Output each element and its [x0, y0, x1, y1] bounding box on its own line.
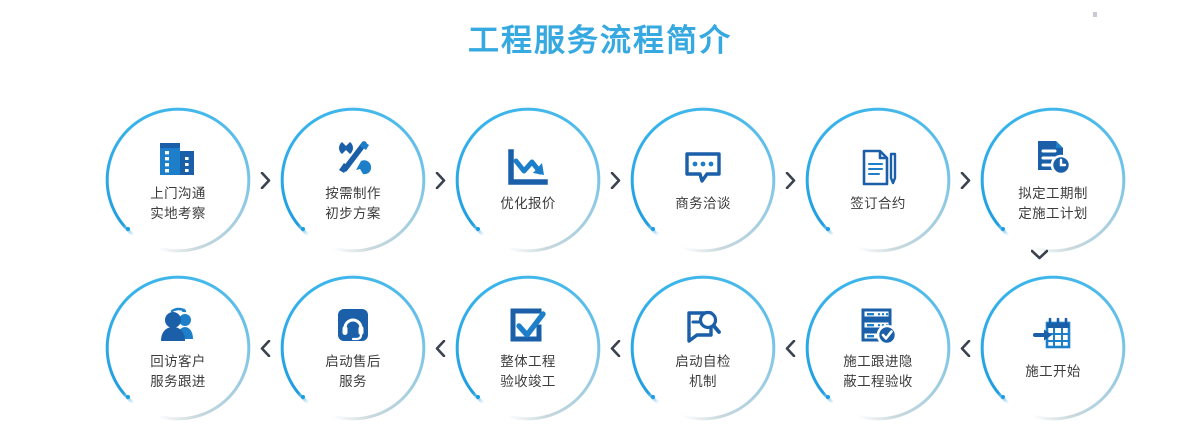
- caption-line: 优化报价: [500, 194, 556, 214]
- caption-line: 服务: [325, 372, 381, 392]
- chat-bubble-icon: [680, 146, 726, 190]
- flow-step-12[interactable]: 回访客户 服务跟进: [105, 275, 251, 421]
- connector-arrow-right: [426, 107, 455, 253]
- chart-down-arrow-icon: [505, 146, 551, 190]
- flow-step-caption: 按需制作 初步方案: [325, 184, 381, 224]
- flow-step-caption: 启动自检 机制: [675, 352, 731, 392]
- caption-line: 启动售后: [325, 352, 381, 372]
- caption-line: 按需制作: [325, 184, 381, 204]
- image-artifact-mark: [1093, 12, 1097, 17]
- flow-row-2: 回访客户 服务跟进 启动售后 服务: [0, 268, 1200, 428]
- step-ring-cap: [826, 395, 830, 399]
- connector-arrow-left: [951, 275, 980, 421]
- step-ring: [105, 275, 251, 421]
- people-followup-icon: [155, 304, 201, 348]
- flow-step-1[interactable]: 上门沟通 实地考察: [105, 107, 251, 253]
- connector-arrow-left: [426, 275, 455, 421]
- caption-line: 启动自检: [675, 352, 731, 372]
- page-title: 工程服务流程简介: [0, 21, 1200, 61]
- flow-step-caption: 施工跟进隐 蔽工程验收: [843, 352, 913, 392]
- document-pen-icon: [855, 146, 901, 190]
- tools-wrench-screwdriver-icon: [330, 136, 376, 180]
- flow-step-11[interactable]: 启动售后 服务: [280, 275, 426, 421]
- document-clock-icon: [1030, 136, 1076, 180]
- flow-step-caption: 拟定工期制 定施工计划: [1018, 184, 1088, 224]
- flow-step-caption: 商务洽谈: [675, 194, 731, 214]
- building-icon: [155, 136, 201, 180]
- flow-step-caption: 回访客户 服务跟进: [150, 352, 206, 392]
- flow-step-10[interactable]: 整体工程 验收竣工: [455, 275, 601, 421]
- flow-step-caption: 施工开始: [1025, 362, 1081, 382]
- caption-line: 机制: [675, 372, 731, 392]
- connector-arrow-left: [601, 275, 630, 421]
- caption-line: 拟定工期制: [1018, 184, 1088, 204]
- connector-arrow-left: [776, 275, 805, 421]
- step-ring: [280, 107, 426, 253]
- row-turn-arrow: [1014, 240, 1064, 268]
- caption-line: 施工开始: [1025, 362, 1081, 382]
- headset-support-icon: [330, 304, 376, 348]
- step-ring: [455, 275, 601, 421]
- connector-arrow-right: [951, 107, 980, 253]
- flow-step-8[interactable]: 施工跟进隐 蔽工程验收: [805, 275, 951, 421]
- flow-step-2[interactable]: 按需制作 初步方案: [280, 107, 426, 253]
- connector-arrow-right: [601, 107, 630, 253]
- flow-step-3[interactable]: 优化报价: [455, 107, 601, 253]
- caption-line: 商务洽谈: [675, 194, 731, 214]
- step-ring-cap: [826, 227, 830, 231]
- flow-step-caption: 签订合约: [850, 194, 906, 214]
- step-ring-cap: [301, 395, 305, 399]
- caption-line: 服务跟进: [150, 372, 206, 392]
- connector-arrow-left: [251, 275, 280, 421]
- checkbox-check-icon: [505, 304, 551, 348]
- caption-line: 验收竣工: [500, 372, 556, 392]
- caption-line: 上门沟通: [150, 184, 206, 204]
- step-ring-cap: [651, 227, 655, 231]
- flow-step-caption: 优化报价: [500, 194, 556, 214]
- caption-line: 初步方案: [325, 204, 381, 224]
- caption-line: 蔽工程验收: [843, 372, 913, 392]
- flow-step-4[interactable]: 商务洽谈: [630, 107, 776, 253]
- caption-line: 实地考察: [150, 204, 206, 224]
- step-ring: [980, 107, 1126, 253]
- step-ring-cap: [126, 227, 130, 231]
- step-ring-cap: [476, 227, 480, 231]
- caption-line: 签订合约: [850, 194, 906, 214]
- connector-arrow-right: [776, 107, 805, 253]
- step-ring-cap: [476, 395, 480, 399]
- flow-step-caption: 上门沟通 实地考察: [150, 184, 206, 224]
- caption-line: 回访客户: [150, 352, 206, 372]
- flow-step-5[interactable]: 签订合约: [805, 107, 951, 253]
- flow-step-9[interactable]: 启动自检 机制: [630, 275, 776, 421]
- connector-arrow-right: [251, 107, 280, 253]
- flow-step-6[interactable]: 拟定工期制 定施工计划: [980, 107, 1126, 253]
- caption-line: 整体工程: [500, 352, 556, 372]
- step-ring-cap: [301, 227, 305, 231]
- document-magnifier-icon: [680, 304, 726, 348]
- step-ring-cap: [1001, 395, 1005, 399]
- caption-line: 定施工计划: [1018, 204, 1088, 224]
- process-flow-infographic: 工程服务流程简介: [0, 0, 1200, 440]
- step-ring-cap: [651, 395, 655, 399]
- flow-row-1: 上门沟通 实地考察 按: [0, 100, 1200, 260]
- step-ring-cap: [1001, 227, 1005, 231]
- calendar-start-icon: [1030, 314, 1076, 358]
- flow-step-caption: 整体工程 验收竣工: [500, 352, 556, 392]
- flow-step-caption: 启动售后 服务: [325, 352, 381, 392]
- step-ring: [630, 275, 776, 421]
- step-ring: [280, 275, 426, 421]
- step-ring: [805, 275, 951, 421]
- caption-line: 施工跟进隐: [843, 352, 913, 372]
- step-ring-cap: [126, 395, 130, 399]
- flow-step-7[interactable]: 施工开始: [980, 275, 1126, 421]
- server-check-icon: [855, 304, 901, 348]
- step-ring: [105, 107, 251, 253]
